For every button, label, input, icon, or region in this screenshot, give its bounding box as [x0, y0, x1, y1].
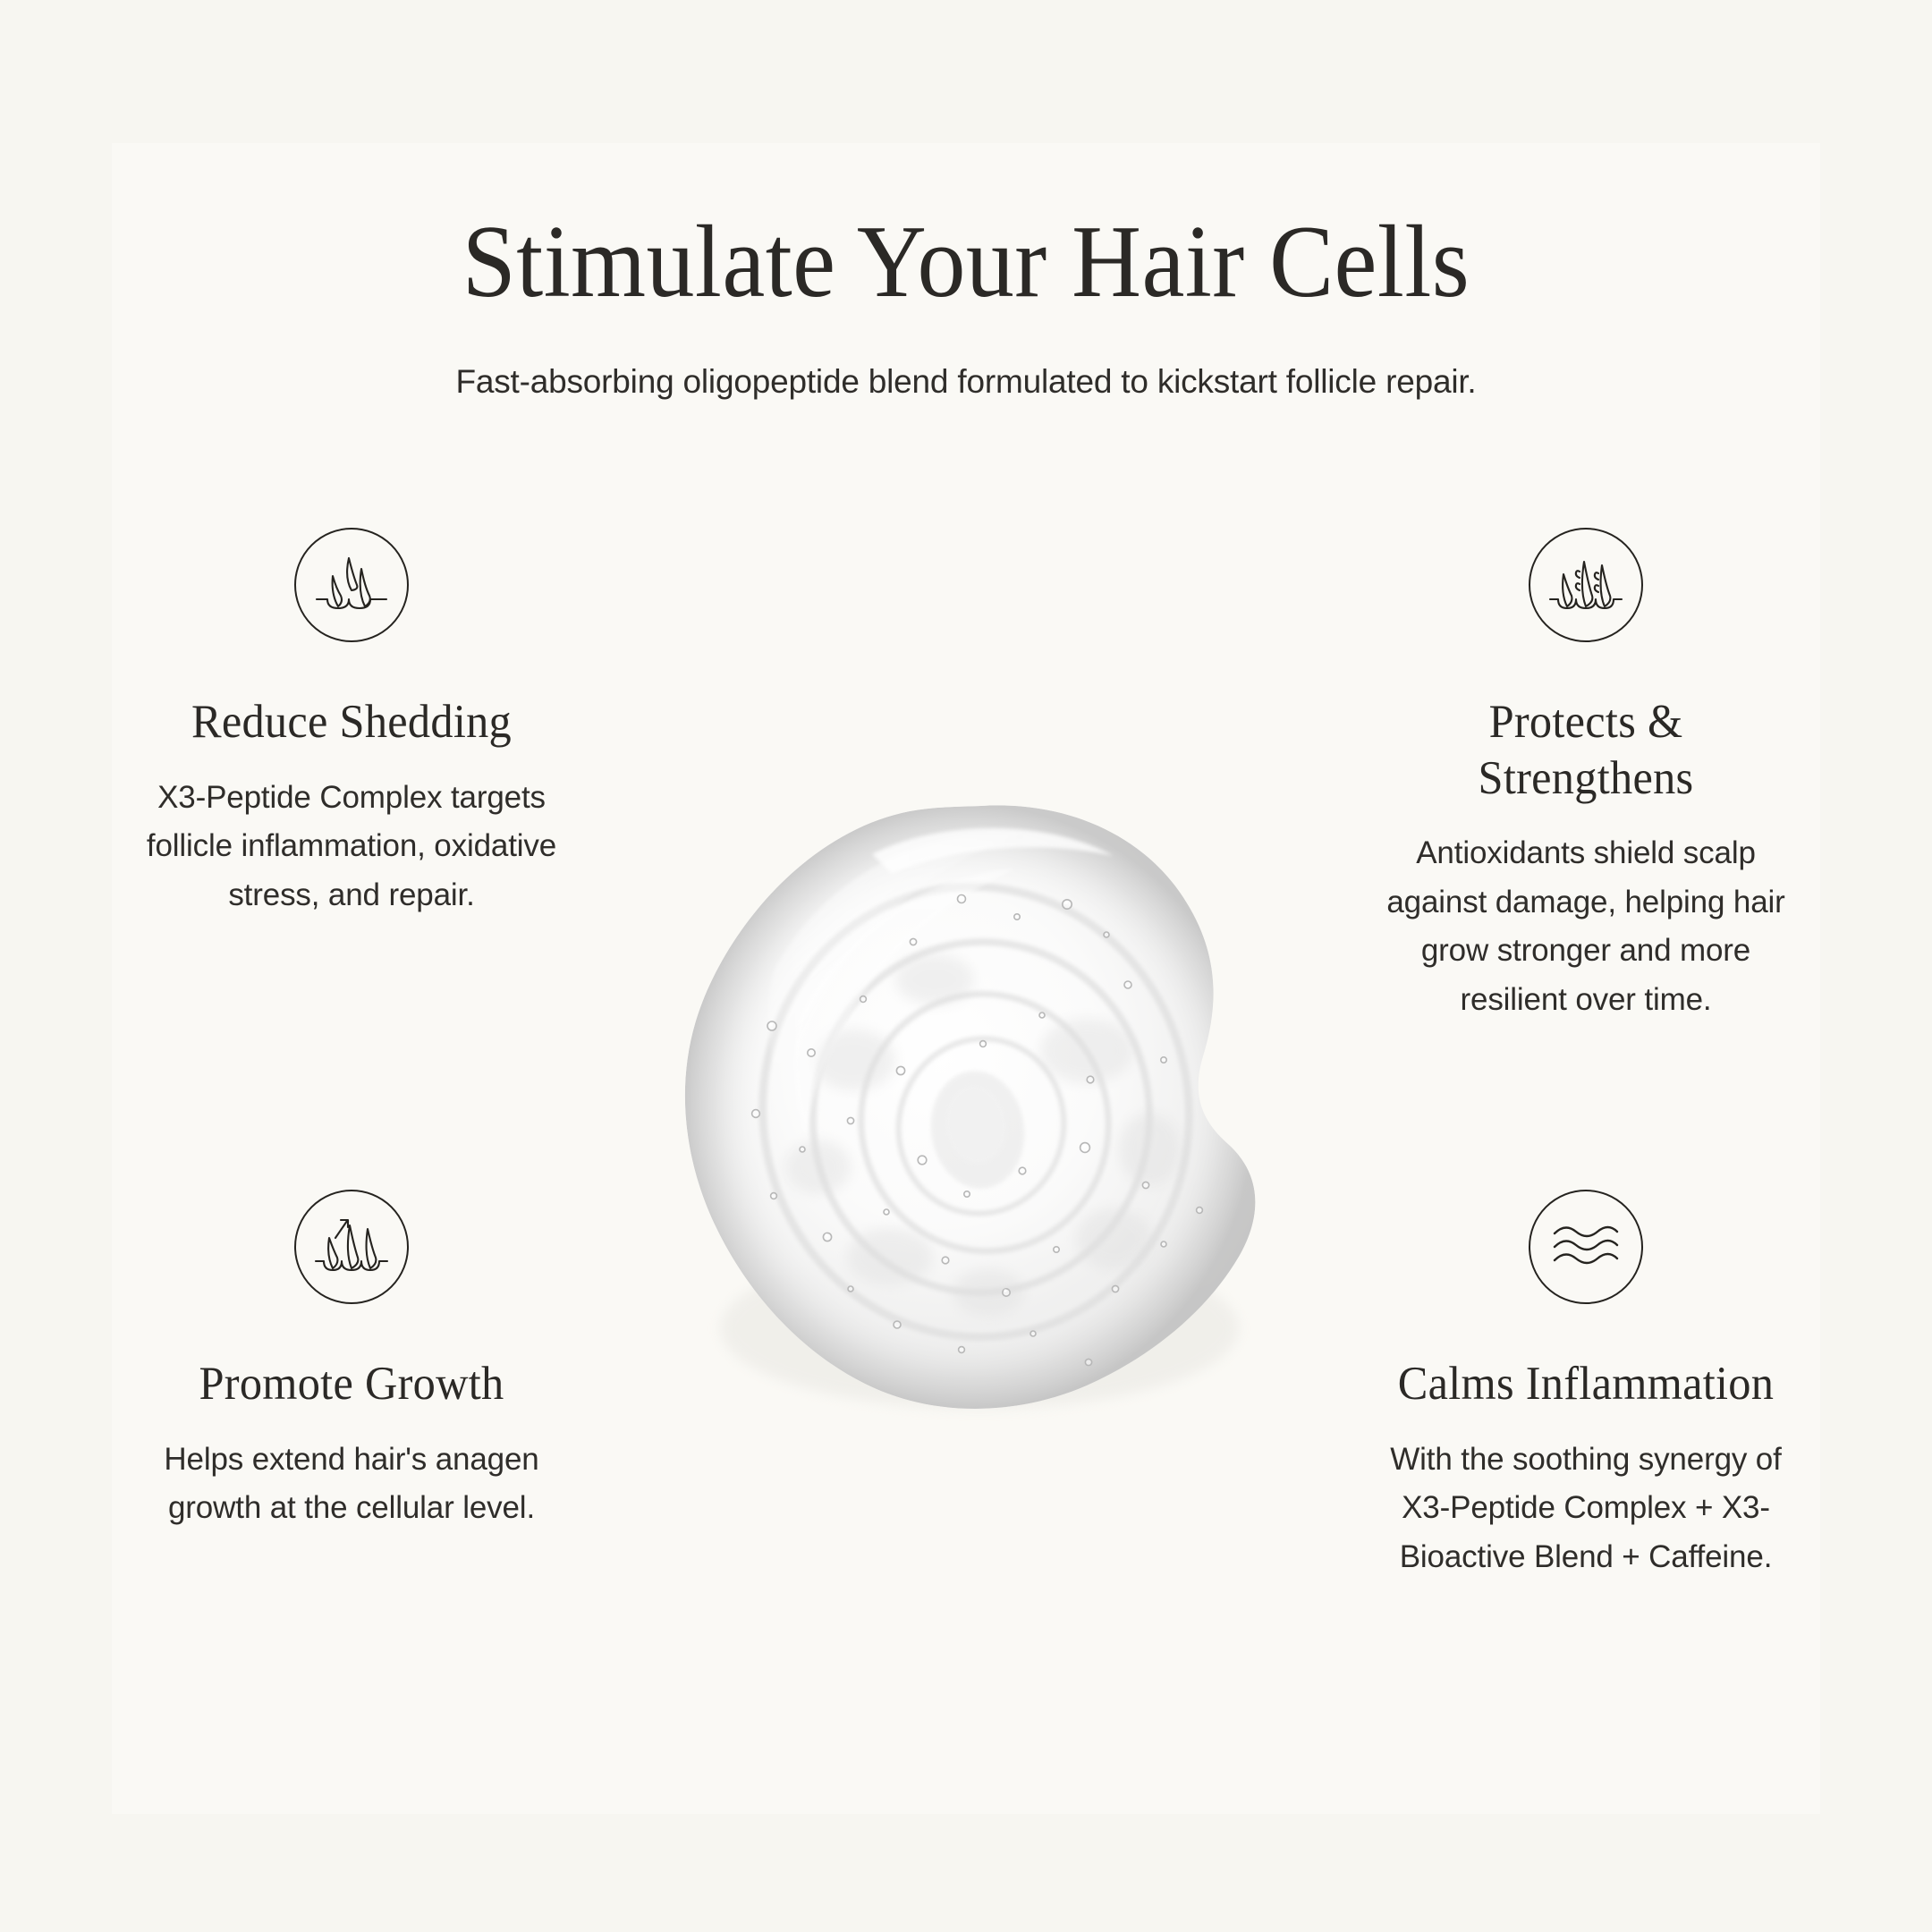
- clear-gel-serum-swatch: [666, 792, 1292, 1427]
- feature-reduce-shedding: Reduce Shedding X3-Peptide Complex targe…: [141, 528, 562, 919]
- feature-promote-growth: Promote Growth Helps extend hair's anage…: [141, 1190, 562, 1533]
- feature-calms-inflammation: Calms Inflammation With the soothing syn…: [1376, 1190, 1796, 1581]
- feature-protects-strengthens: Protects & Strengthens Antioxidants shie…: [1376, 528, 1796, 1024]
- feature-body: With the soothing synergy of X3-Peptide …: [1376, 1412, 1796, 1582]
- page-title: Stimulate Your Hair Cells: [68, 208, 1865, 318]
- feature-body: X3-Peptide Complex targets follicle infl…: [141, 750, 562, 920]
- feature-body: Helps extend hair's anagen growth at the…: [141, 1412, 562, 1533]
- feature-title: Protects & Strengthens: [1386, 642, 1786, 806]
- product-benefits-infographic: Stimulate Your Hair Cells Fast-absorbing…: [0, 0, 1932, 1932]
- page-subtitle: Fast-absorbing oligopeptide blend formul…: [0, 318, 1932, 405]
- hair-follicle-shedding-icon: [294, 528, 409, 642]
- feature-title: Reduce Shedding: [152, 642, 552, 750]
- header: Stimulate Your Hair Cells Fast-absorbing…: [0, 208, 1932, 405]
- hair-follicle-protect-icon: [1529, 528, 1643, 642]
- feature-body: Antioxidants shield scalp against damage…: [1376, 806, 1796, 1024]
- feature-title: Calms Inflammation: [1386, 1304, 1786, 1412]
- soothing-waves-icon: [1529, 1190, 1643, 1304]
- feature-title: Promote Growth: [152, 1304, 552, 1412]
- hair-follicle-growth-arrow-icon: [294, 1190, 409, 1304]
